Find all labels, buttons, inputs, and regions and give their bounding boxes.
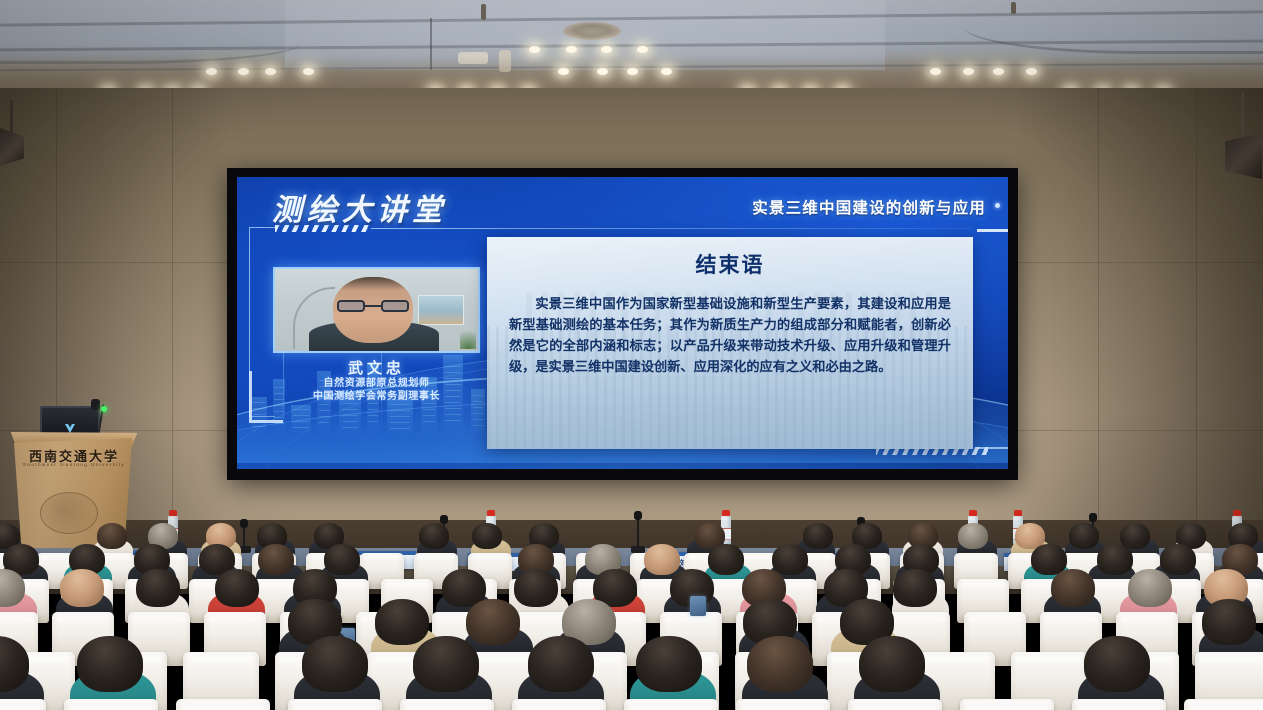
sprinkler-icon — [1011, 2, 1016, 14]
audience-chair — [848, 699, 942, 710]
led-video-wall[interactable]: 测绘大讲堂 实景三维中国建设的创新与应用 武文忠 自然资源部原总规划师 中国测绘… — [227, 168, 1018, 480]
plant-decor — [460, 323, 476, 349]
podium-microphone-head-icon — [91, 399, 100, 410]
audience-member-head — [1128, 569, 1172, 607]
audience-member-head — [859, 636, 925, 692]
wall-art-decor — [418, 295, 464, 325]
slide-header-title: 实景三维中国建设的创新与应用 — [752, 196, 986, 218]
audience-member-head — [1051, 569, 1095, 607]
audience-chair — [1072, 699, 1166, 710]
audience-member-head — [258, 544, 294, 575]
downlight — [930, 68, 941, 75]
downlight — [601, 46, 612, 53]
speaker-mount-rod — [10, 100, 13, 132]
downlight — [529, 46, 540, 53]
audience-member-head — [1097, 544, 1133, 575]
downlight — [238, 68, 249, 75]
audience-tablet — [690, 596, 706, 616]
downlight — [558, 68, 569, 75]
glasses-icon — [337, 300, 409, 312]
audience-member-head — [413, 636, 479, 692]
air-vent-icon — [563, 22, 621, 40]
program-logo: 测绘大讲堂 — [272, 185, 447, 229]
speaker-title-line-2: 中国测绘学会常务副理事长 — [261, 390, 492, 403]
downlight — [303, 68, 314, 75]
audience-member-head — [215, 569, 259, 607]
speaker-mount-rod — [1241, 92, 1244, 136]
audience-member-head — [514, 569, 558, 607]
audience-member-head — [708, 544, 744, 575]
audience-seating — [0, 500, 1263, 710]
speaker-title: 自然资源部原总规划师 中国测绘学会常务副理事长 — [261, 377, 492, 403]
header-accent-dot — [995, 203, 1000, 208]
podium-institution-en: Southwest Jiaotong University — [16, 462, 132, 467]
audience-member-head — [77, 636, 143, 692]
audience-member-head — [528, 636, 594, 692]
audience-member-head — [375, 599, 429, 645]
audience-member-head — [466, 599, 520, 645]
audience-chair — [64, 699, 158, 710]
audience-member-head — [324, 544, 360, 575]
audience-member-head — [302, 636, 368, 692]
downlight — [993, 68, 1004, 75]
audience-member-head — [136, 569, 180, 607]
downlight — [637, 46, 648, 53]
audience-member-head — [772, 544, 808, 575]
downlight — [627, 68, 638, 75]
audience-member-head — [472, 523, 502, 549]
lecture-hall-scene: 测绘大讲堂 实景三维中国建设的创新与应用 武文忠 自然资源部原总规划师 中国测绘… — [0, 0, 1263, 710]
corner-bracket-top-right — [977, 229, 1008, 259]
sprinkler-icon — [481, 4, 486, 20]
slide-section-title: 结束语 — [487, 249, 973, 279]
downlight — [661, 68, 672, 75]
corner-bracket-bottom-right — [977, 413, 1008, 449]
audience-member-head — [893, 569, 937, 607]
audience-member-head — [1202, 599, 1256, 645]
header-rule — [371, 228, 971, 229]
audience-chair — [512, 699, 606, 710]
audience-member-head — [644, 544, 680, 575]
slide-body-text: 实景三维中国作为国家新型基础设施和新型生产要素，其建设和应用是新型基础测绘的基本… — [509, 293, 951, 377]
ceiling-curve — [963, 8, 1263, 54]
audience-chair — [176, 699, 270, 710]
speaker-name: 武文忠 — [273, 357, 480, 378]
audience-member-head — [1069, 523, 1099, 549]
audience-chair — [960, 699, 1054, 710]
audience-member-head — [60, 569, 104, 607]
downlight — [597, 68, 608, 75]
speaker-title-line-1: 自然资源部原总规划师 — [261, 377, 492, 390]
audience-member-head — [958, 523, 988, 549]
speaker-video-feed[interactable] — [273, 267, 480, 353]
downlight — [1026, 68, 1037, 75]
slide-content-card: 结束语 实景三维中国作为国家新型基础设施和新型生产要素，其建设和应用是新型基础测… — [487, 237, 973, 449]
downlight — [566, 46, 577, 53]
audience-member-head — [803, 523, 833, 549]
slide-canvas: 测绘大讲堂 实景三维中国建设的创新与应用 武文忠 自然资源部原总规划师 中国测绘… — [237, 177, 1008, 469]
microphone-status-led — [101, 406, 107, 412]
downlight — [963, 68, 974, 75]
audience-chair — [0, 699, 46, 710]
audience-member-head — [97, 523, 127, 549]
downlight — [265, 68, 276, 75]
audience-chair — [288, 699, 382, 710]
audience-chair — [1184, 699, 1263, 710]
audience-chair — [736, 699, 830, 710]
audience-chair — [400, 699, 494, 710]
downlight — [206, 68, 217, 75]
audience-member-head — [1084, 636, 1150, 692]
audience-member-head — [419, 523, 449, 549]
audience-member-head — [1160, 544, 1196, 575]
audience-member-head — [747, 636, 813, 692]
audience-chair — [624, 699, 718, 710]
audience-member-head — [636, 636, 702, 692]
